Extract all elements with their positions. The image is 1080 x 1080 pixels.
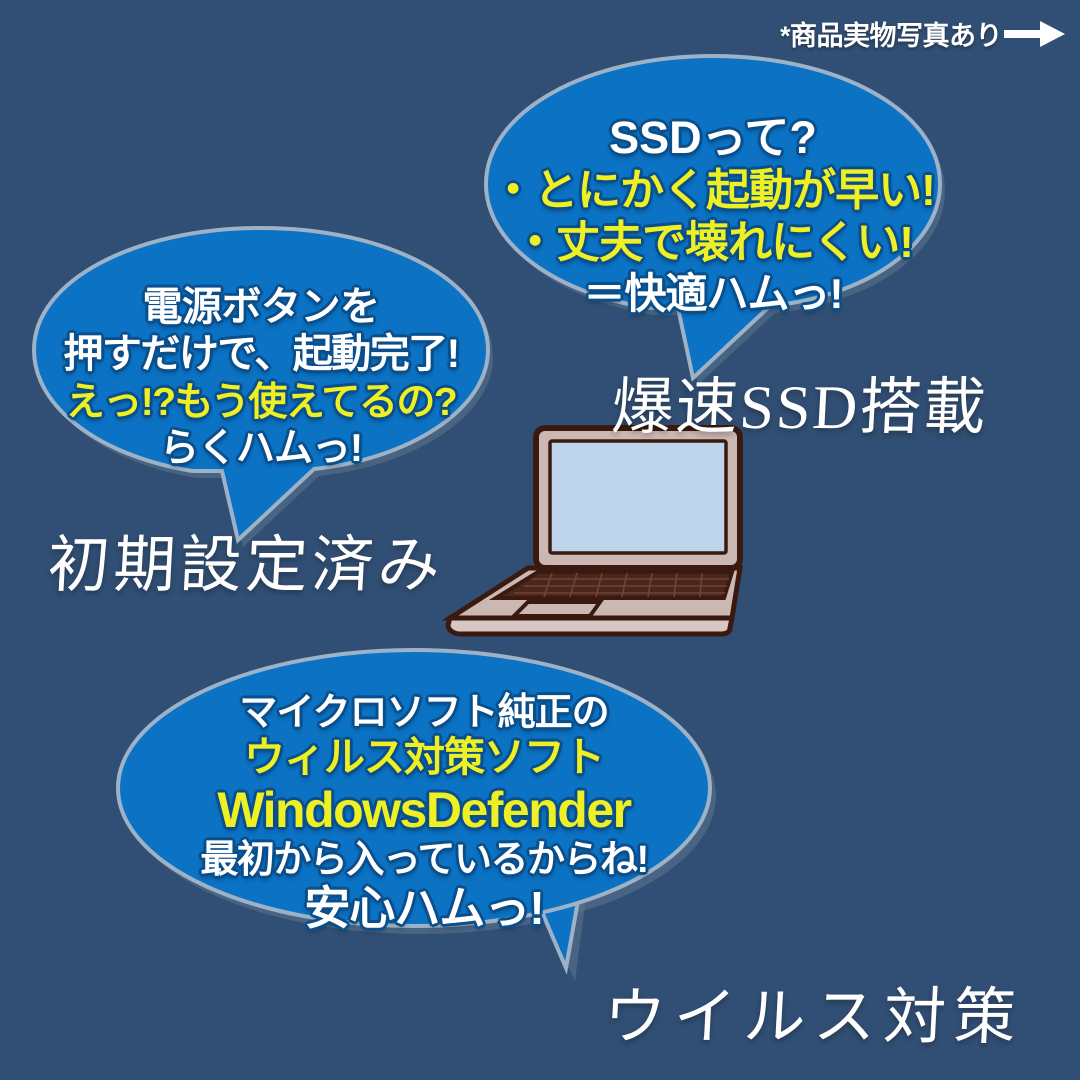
caption-virus: ウイルス対策 [602, 966, 1027, 1056]
bubble-ssd-line-2: ・とにかく起動が早い! [491, 166, 935, 215]
laptop-keyboard [496, 572, 732, 598]
bubble-defender-line-1: マイクロソフト純正の [239, 692, 608, 735]
speech-bubble-power-text: 電源ボタンを 押すだけで、起動完了! えっ!?もう使えてるの? らくハムっ! [26, 228, 496, 528]
caption-ssd: 爆速SSD搭載 [610, 356, 990, 446]
bubble-ssd-line-1: SSDって? [609, 113, 817, 163]
arrow-right-icon [1004, 19, 1066, 49]
caption-setup: 初期設定済み [46, 514, 447, 604]
product-photo-note-label: *商品実物写真あり [780, 14, 1002, 53]
poster-canvas: *商品実物写真あり SSDって? ・とにかく起動が早い! ・丈夫で壊れにくい! … [0, 0, 1080, 1080]
bubble-ssd-line-4: ＝快適ハムっ! [584, 270, 843, 317]
bubble-defender-line-3: WindowsDefender [217, 782, 630, 838]
bubble-defender-line-4: 最初から入っているからね! [200, 839, 647, 882]
product-photo-note: *商品実物写真あり [780, 14, 1066, 53]
bubble-defender-line-2: ウィルス対策ソフト [244, 735, 604, 781]
bubble-power-line-2: 押すだけで、起動完了! [63, 332, 458, 377]
speech-bubble-ssd-text: SSDって? ・とにかく起動が早い! ・丈夫で壊れにくい! ＝快適ハムっ! [478, 56, 948, 370]
speech-bubble-windows-defender: マイクロソフト純正の ウィルス対策ソフト WindowsDefender 最初か… [114, 648, 734, 978]
speech-bubble-power-button: 電源ボタンを 押すだけで、起動完了! えっ!?もう使えてるの? らくハムっ! [26, 228, 496, 528]
laptop-illustration [432, 422, 762, 642]
laptop-base-front [448, 618, 732, 634]
speech-bubble-defender-text: マイクロソフト純正の ウィルス対策ソフト WindowsDefender 最初か… [114, 648, 734, 996]
bubble-defender-line-5: 安心ハムっ! [304, 883, 543, 935]
bubble-ssd-line-3: ・丈夫で壊れにくい! [513, 218, 913, 267]
bubble-power-line-3: えっ!?もう使えてるの? [66, 381, 457, 425]
laptop-trackpad [514, 602, 600, 616]
bubble-power-line-1: 電源ボタンを [143, 285, 380, 330]
bubble-power-line-4: らくハムっ! [160, 427, 362, 471]
laptop-screen [550, 441, 726, 553]
speech-bubble-ssd: SSDって? ・とにかく起動が早い! ・丈夫で壊れにくい! ＝快適ハムっ! [478, 56, 948, 366]
